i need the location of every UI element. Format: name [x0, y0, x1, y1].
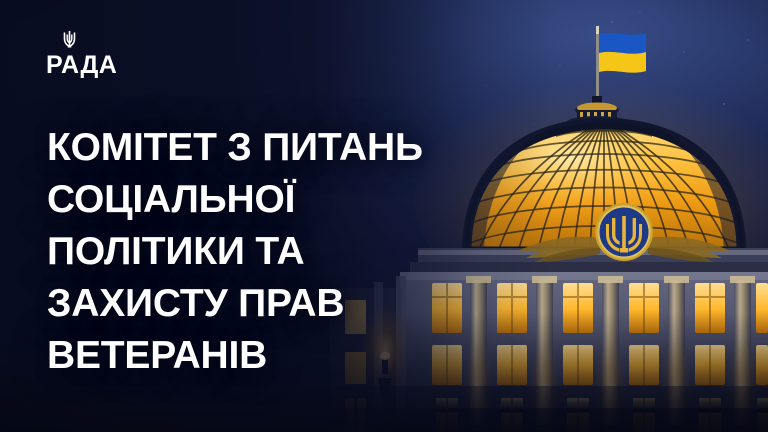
ukrainian-trident-icon — [62, 30, 77, 48]
rada-logo[interactable]: РАДА — [46, 30, 117, 78]
headline-line-1: КОМІТЕТ З ПИТАНЬ — [47, 122, 567, 174]
banner-canvas: РАДА КОМІТЕТ З ПИТАНЬ СОЦІАЛЬНОЇ ПОЛІТИК… — [0, 0, 768, 432]
headline-line-3: ПОЛІТИКИ ТА — [47, 226, 567, 278]
rada-wordmark: РАДА — [46, 53, 117, 78]
headline-line-4: ЗАХИСТУ ПРАВ — [47, 278, 567, 330]
page-title: КОМІТЕТ З ПИТАНЬ СОЦІАЛЬНОЇ ПОЛІТИКИ ТА … — [47, 122, 567, 382]
headline-line-2: СОЦІАЛЬНОЇ — [47, 174, 567, 226]
headline-line-5: ВЕТЕРАНІВ — [47, 330, 567, 382]
